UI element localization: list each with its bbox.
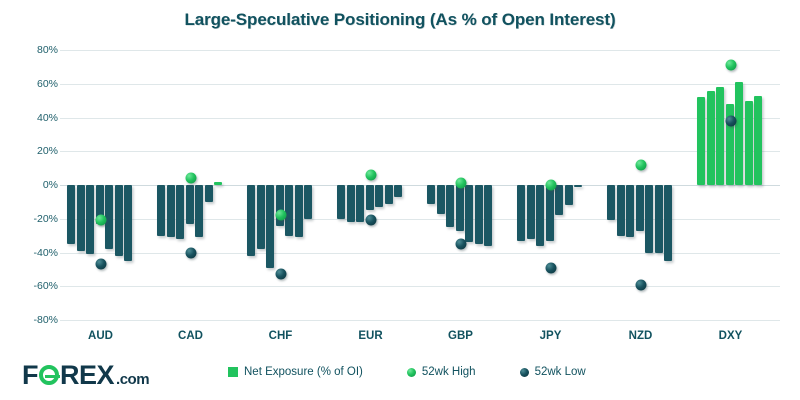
chart-footer: F REX .com Net Exposure (% of OI)52wk Hi… xyxy=(0,352,800,400)
bar[interactable] xyxy=(655,185,663,253)
marker-52wk-low[interactable] xyxy=(545,262,556,273)
marker-52wk-high[interactable] xyxy=(635,159,646,170)
bar-group-chf xyxy=(240,50,330,320)
x-axis-label-nzd: NZD xyxy=(629,330,653,342)
legend-item-2[interactable]: 52wk Low xyxy=(520,366,586,378)
marker-52wk-low[interactable] xyxy=(455,239,466,250)
bar[interactable] xyxy=(484,185,492,246)
y-axis-tick-labels: 80%60%40%20%0%-20%-40%-60%-80% xyxy=(0,50,58,320)
bar[interactable] xyxy=(664,185,672,261)
forex-com-logo: F REX .com xyxy=(22,360,149,391)
bar[interactable] xyxy=(394,185,402,197)
logo-euro-o-icon xyxy=(39,365,59,385)
legend-square-swatch-icon xyxy=(228,367,238,377)
bar-group-gbp xyxy=(420,50,510,320)
bar[interactable] xyxy=(295,185,303,237)
chart-root: Large-Speculative Positioning (As % of O… xyxy=(0,0,800,400)
marker-52wk-high[interactable] xyxy=(545,180,556,191)
logo-text-dotcom: .com xyxy=(116,371,149,388)
bar[interactable] xyxy=(115,185,123,256)
x-axis-label-aud: AUD xyxy=(88,330,113,342)
bar[interactable] xyxy=(745,101,753,185)
bar[interactable] xyxy=(176,185,184,239)
bar[interactable] xyxy=(195,185,203,237)
bar-group-cad xyxy=(150,50,240,320)
marker-52wk-high[interactable] xyxy=(275,210,286,221)
bar-group-eur xyxy=(330,50,420,320)
bar[interactable] xyxy=(475,185,483,244)
bar[interactable] xyxy=(67,185,75,244)
bar[interactable] xyxy=(546,185,554,241)
y-axis-tick-label: -80% xyxy=(10,314,58,326)
bar[interactable] xyxy=(574,185,582,187)
bar-group-dxy xyxy=(690,50,780,320)
x-axis-label-gbp: GBP xyxy=(448,330,473,342)
plot-area xyxy=(60,50,780,320)
bar[interactable] xyxy=(366,185,374,210)
x-axis-label-cad: CAD xyxy=(178,330,203,342)
bar-group-jpy xyxy=(510,50,600,320)
bar[interactable] xyxy=(697,97,705,185)
bar[interactable] xyxy=(617,185,625,236)
bar[interactable] xyxy=(257,185,265,249)
bar-group-nzd xyxy=(600,50,690,320)
marker-52wk-low[interactable] xyxy=(275,269,286,280)
bar[interactable] xyxy=(77,185,85,251)
legend-item-1[interactable]: 52wk High xyxy=(407,366,476,378)
bar[interactable] xyxy=(707,91,715,186)
bar[interactable] xyxy=(754,96,762,185)
marker-52wk-low[interactable] xyxy=(185,247,196,258)
y-axis-tick-label: -40% xyxy=(10,247,58,259)
marker-52wk-high[interactable] xyxy=(365,169,376,180)
marker-52wk-low[interactable] xyxy=(635,279,646,290)
bar[interactable] xyxy=(456,185,464,231)
bar[interactable] xyxy=(285,185,293,236)
bar[interactable] xyxy=(446,185,454,227)
x-axis-label-chf: CHF xyxy=(269,330,293,342)
y-axis-tick-label: 0% xyxy=(10,179,58,191)
chart-title: Large-Speculative Positioning (As % of O… xyxy=(0,10,800,30)
bar[interactable] xyxy=(186,185,194,224)
x-axis-label-eur: EUR xyxy=(358,330,382,342)
bar[interactable] xyxy=(645,185,653,253)
marker-52wk-high[interactable] xyxy=(185,173,196,184)
bar[interactable] xyxy=(427,185,435,204)
bar[interactable] xyxy=(437,185,445,214)
bar[interactable] xyxy=(214,182,222,185)
y-axis-tick-label: 60% xyxy=(10,78,58,90)
bar[interactable] xyxy=(266,185,274,268)
legend-label: Net Exposure (% of OI) xyxy=(244,366,363,378)
bar[interactable] xyxy=(636,185,644,231)
marker-52wk-low[interactable] xyxy=(95,259,106,270)
y-axis-tick-label: -60% xyxy=(10,280,58,292)
bar[interactable] xyxy=(536,185,544,246)
bar[interactable] xyxy=(565,185,573,205)
x-axis-category-labels: AUDCADCHFEURGBPJPYNZDDXY xyxy=(60,330,780,350)
chart-legend: Net Exposure (% of OI)52wk High52wk Low xyxy=(228,366,586,378)
bar[interactable] xyxy=(337,185,345,219)
legend-item-0[interactable]: Net Exposure (% of OI) xyxy=(228,366,363,378)
y-axis-tick-label: 40% xyxy=(10,112,58,124)
bar[interactable] xyxy=(626,185,634,237)
logo-text-f: F xyxy=(22,360,38,391)
y-axis-tick-label: -20% xyxy=(10,213,58,225)
bar-group-aud xyxy=(60,50,150,320)
legend-dark-dot-icon xyxy=(520,368,529,377)
x-axis-label-jpy: JPY xyxy=(540,330,562,342)
bar[interactable] xyxy=(86,185,94,254)
legend-label: 52wk Low xyxy=(535,366,586,378)
bar[interactable] xyxy=(167,185,175,237)
marker-52wk-high[interactable] xyxy=(725,60,736,71)
bar[interactable] xyxy=(527,185,535,239)
bar[interactable] xyxy=(157,185,165,236)
legend-green-dot-icon xyxy=(407,368,416,377)
marker-52wk-high[interactable] xyxy=(455,178,466,189)
legend-label: 52wk High xyxy=(422,366,476,378)
bar[interactable] xyxy=(205,185,213,202)
bar[interactable] xyxy=(124,185,132,261)
bar[interactable] xyxy=(375,185,383,207)
logo-text-rex: REX xyxy=(60,360,114,391)
y-axis-tick-label: 80% xyxy=(10,44,58,56)
bar[interactable] xyxy=(247,185,255,256)
bar[interactable] xyxy=(105,185,113,249)
x-axis-label-dxy: DXY xyxy=(719,330,743,342)
bar[interactable] xyxy=(517,185,525,241)
bar[interactable] xyxy=(347,185,355,222)
bar[interactable] xyxy=(356,185,364,222)
marker-52wk-low[interactable] xyxy=(725,115,736,126)
bar[interactable] xyxy=(607,185,615,220)
marker-52wk-low[interactable] xyxy=(365,215,376,226)
bar[interactable] xyxy=(716,87,724,185)
bar[interactable] xyxy=(304,185,312,219)
bar[interactable] xyxy=(555,185,563,215)
marker-52wk-high[interactable] xyxy=(95,215,106,226)
bar[interactable] xyxy=(465,185,473,242)
bar[interactable] xyxy=(735,82,743,185)
y-axis-tick-label: 20% xyxy=(10,145,58,157)
gridline xyxy=(60,320,780,321)
bar[interactable] xyxy=(385,185,393,204)
